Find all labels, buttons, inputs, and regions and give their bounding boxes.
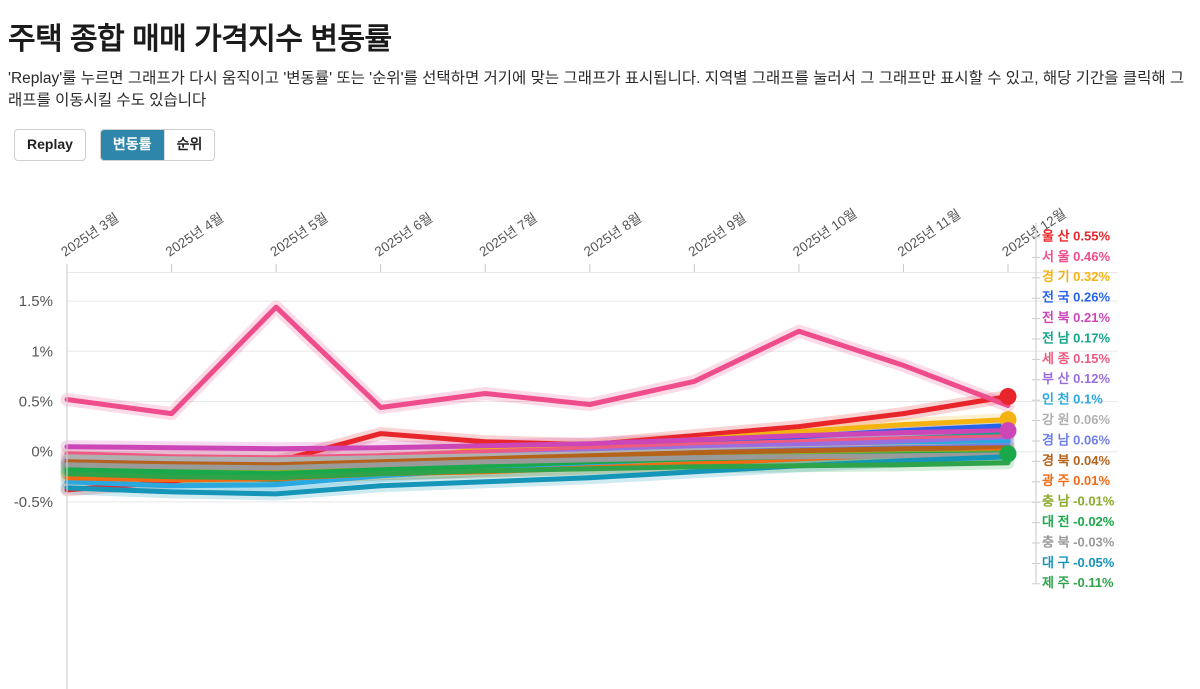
x-axis-tick-label[interactable]: 2025년 6월 — [372, 210, 435, 259]
mode-change-rate-button[interactable]: 변동률 — [101, 130, 164, 160]
series-label[interactable]: 대 구 -0.05% — [1042, 555, 1115, 570]
y-axis-tick-label: -0.5% — [14, 494, 53, 511]
x-axis-tick-label[interactable]: 2025년 7월 — [477, 210, 540, 259]
series-label[interactable]: 광 주 0.01% — [1042, 473, 1110, 488]
series-label[interactable]: 전 남 0.17% — [1042, 330, 1110, 345]
mode-rank-button[interactable]: 순위 — [164, 130, 215, 160]
line-chart[interactable]: 2025년 3월2025년 4월2025년 5월2025년 6월2025년 7월… — [0, 179, 1200, 689]
mode-toggle-group: 변동률 순위 — [100, 129, 215, 161]
x-axis-tick-label[interactable]: 2025년 3월 — [58, 210, 121, 259]
series-label[interactable]: 충 남 -0.01% — [1042, 494, 1115, 509]
series-label[interactable]: 서 울 0.46% — [1042, 249, 1110, 264]
series-label[interactable]: 경 남 0.06% — [1042, 432, 1110, 447]
series-label[interactable]: 울 산 0.55% — [1042, 228, 1110, 243]
series-lines[interactable] — [67, 307, 1008, 494]
y-axis-tick-label: 0% — [31, 444, 53, 461]
y-axis-tick-label: 1.5% — [19, 293, 53, 310]
page-title: 주택 종합 매매 가격지수 변동률 — [8, 14, 1200, 58]
series-markers — [1000, 388, 1017, 462]
page-subtitle: 'Replay'룰 누르면 그래프가 다시 움직이고 '변동률' 또는 '순위'… — [8, 68, 1192, 113]
series-label[interactable]: 경 기 0.32% — [1042, 269, 1110, 284]
x-axis-tick-label[interactable]: 2025년 11월 — [895, 206, 964, 259]
series-label[interactable]: 경 북 0.04% — [1042, 453, 1110, 468]
series-label[interactable]: 전 북 0.21% — [1042, 310, 1110, 325]
series-label[interactable]: 대 전 -0.02% — [1042, 514, 1115, 529]
replay-button[interactable]: Replay — [14, 129, 86, 161]
x-axis-tick-label[interactable]: 2025년 10월 — [790, 206, 859, 260]
series-endpoint-marker — [1000, 445, 1017, 462]
series-label[interactable]: 충 북 -0.03% — [1042, 534, 1115, 549]
chart-controls: Replay 변동률 순위 — [14, 129, 1200, 161]
y-axis-ticks: 1.5%1%0.5%0%-0.5% — [14, 293, 53, 511]
series-label[interactable]: 세 종 0.15% — [1042, 351, 1110, 366]
series-label[interactable]: 제 주 -0.11% — [1042, 575, 1114, 590]
y-axis-tick-label: 1% — [31, 343, 53, 360]
series-label[interactable]: 인 천 0.1% — [1042, 392, 1103, 407]
chart-svg[interactable]: 2025년 3월2025년 4월2025년 5월2025년 6월2025년 7월… — [0, 179, 1200, 689]
series-label[interactable]: 강 원 0.06% — [1042, 412, 1110, 427]
x-axis-ticks[interactable]: 2025년 3월2025년 4월2025년 5월2025년 6월2025년 7월… — [58, 206, 1068, 272]
x-axis-tick-label[interactable]: 2025년 4월 — [163, 210, 226, 259]
series-endpoint-marker — [1000, 388, 1017, 405]
series-label[interactable]: 부 산 0.12% — [1042, 371, 1110, 386]
series-endpoint-marker — [1000, 422, 1017, 439]
y-axis-tick-label: 0.5% — [19, 394, 53, 411]
series-line[interactable] — [67, 307, 1008, 414]
x-axis-tick-label[interactable]: 2025년 5월 — [267, 210, 330, 259]
x-axis-tick-label[interactable]: 2025년 8월 — [581, 210, 644, 259]
series-label[interactable]: 전 국 0.26% — [1042, 290, 1110, 305]
series-labels[interactable]: 울 산 0.55%서 울 0.46%경 기 0.32%전 국 0.26%전 북 … — [1042, 228, 1115, 590]
x-axis-tick-label[interactable]: 2025년 9월 — [686, 210, 749, 259]
